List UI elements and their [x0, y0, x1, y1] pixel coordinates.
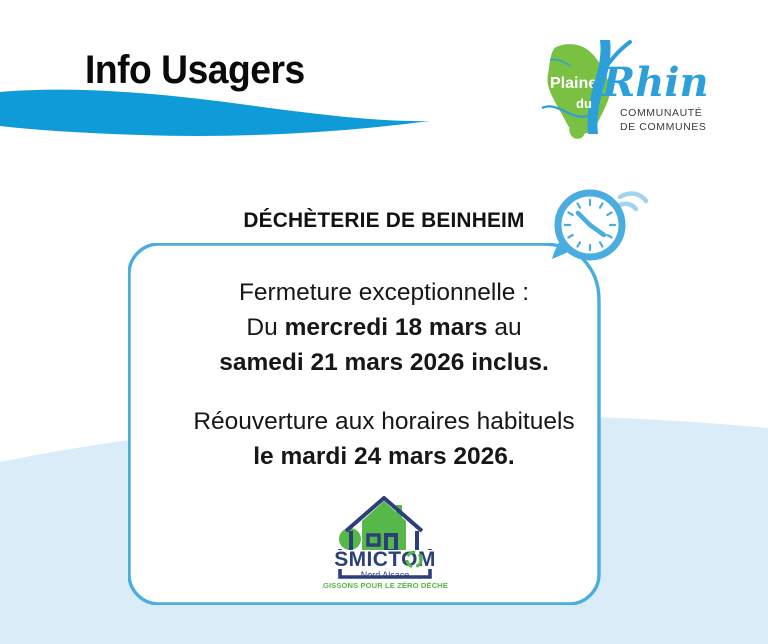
page-title: Info Usagers — [85, 48, 305, 93]
svg-text:Nord Alsace: Nord Alsace — [361, 570, 410, 580]
plaine-du-rhin-logo: Plaine du Rhin COMMUNAUTÉ DE COMMUNES — [524, 34, 716, 146]
closure-line-2-bold: mercredi 18 mars — [285, 314, 488, 341]
closure-line-3: samedi 21 mars 2026 inclus. — [219, 345, 549, 380]
closure-line-2: Du mercredi 18 mars au — [219, 310, 549, 345]
closure-paragraph: Fermeture exceptionnelle : Du mercredi 1… — [219, 275, 549, 380]
reopening-line-2: le mardi 24 mars 2026. — [193, 439, 574, 474]
reopening-line-1: Réouverture aux horaires habituels — [193, 404, 574, 439]
alarm-clock-icon — [542, 181, 648, 273]
closure-line-2-pre: Du — [246, 314, 284, 341]
poster-canvas: Info Usagers Plaine du Rhin COMMUNAUTÉ D… — [0, 0, 768, 644]
svg-text:du: du — [576, 96, 592, 111]
smictom-logo: SMICTOM Nord Alsace AGISSONS POUR LE ZÉR… — [322, 487, 448, 591]
svg-text:AGISSONS POUR LE ZÉRO DÉCHET: AGISSONS POUR LE ZÉRO DÉCHET — [322, 581, 448, 590]
closure-line-2-post: au — [488, 314, 522, 341]
reopening-paragraph: Réouverture aux horaires habituels le ma… — [193, 404, 574, 474]
svg-text:Rhin: Rhin — [601, 59, 709, 106]
svg-text:COMMUNAUTÉ: COMMUNAUTÉ — [620, 106, 702, 119]
svg-text:Plaine: Plaine — [550, 75, 597, 92]
svg-text:DE COMMUNES: DE COMMUNES — [620, 121, 707, 133]
closure-line-1: Fermeture exceptionnelle : — [219, 275, 549, 310]
